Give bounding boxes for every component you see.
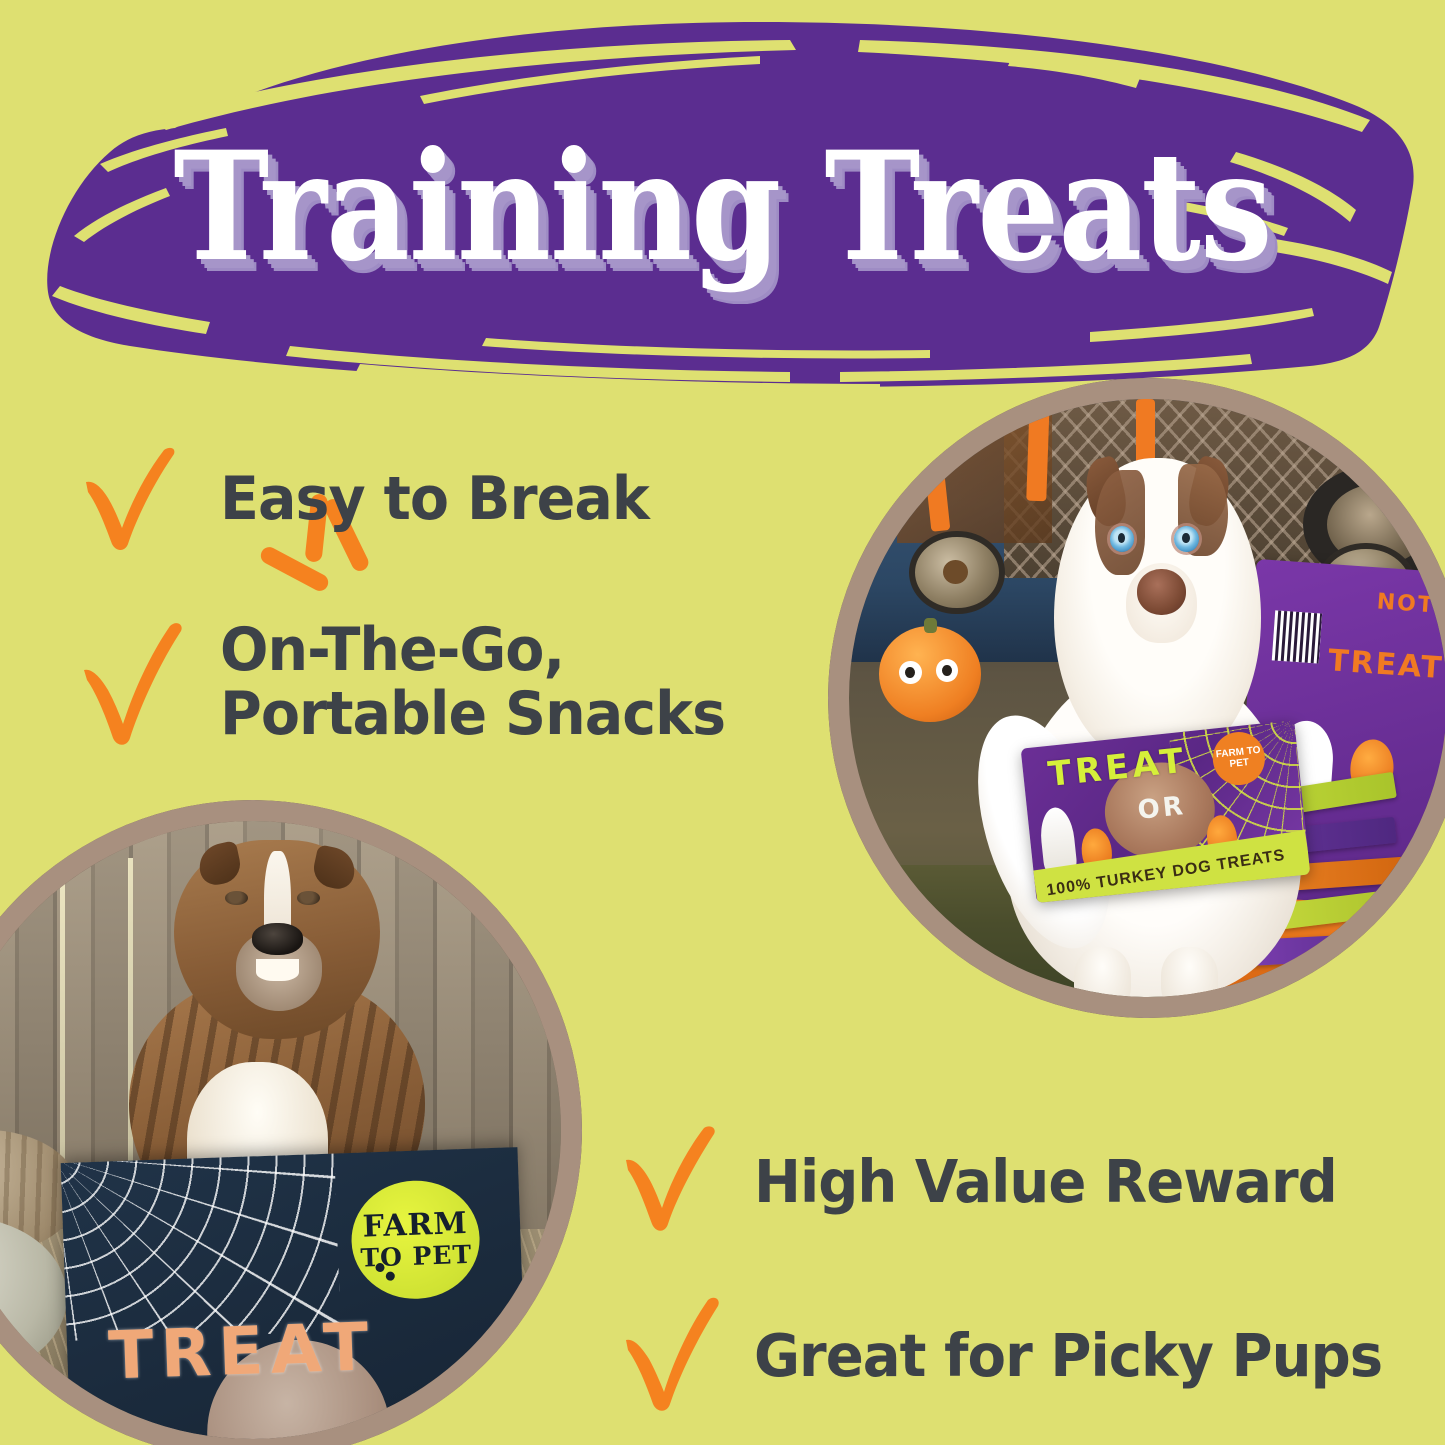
- box-word-top: NOT: [1376, 589, 1436, 618]
- orange-checkmark-icon: [620, 1296, 732, 1414]
- benefit-label: High Value Reward: [754, 1152, 1337, 1211]
- dog-paw-right: [1161, 947, 1218, 997]
- orange-checkmark-icon: [78, 444, 198, 554]
- dog-nose: [1137, 569, 1187, 615]
- dog-face-patch-left: [1095, 470, 1145, 575]
- bulldog-teeth: [256, 959, 299, 981]
- pumpkin-stem: [924, 618, 937, 633]
- dog-paw-left: [1074, 947, 1131, 997]
- photo-bulldog-image: FARM TO PET TREAT OR: [0, 821, 561, 1439]
- package-subline: OR: [1137, 791, 1188, 826]
- package-ghost-character: [97, 1419, 174, 1439]
- header-brush-banner: Training Treats: [0, 0, 1445, 400]
- held-treat-package: TREAT OR FARM TO PET 100% TURKEY DOG TRE…: [1021, 720, 1311, 903]
- page-title: Training Treats: [101, 132, 1344, 282]
- poster-canvas: Training Treats: [0, 0, 1445, 1445]
- benefit-label: Easy to Break: [220, 469, 649, 529]
- orange-checkmark-icon: [78, 618, 198, 748]
- photo-bulldog: FARM TO PET TREAT OR: [0, 800, 582, 1445]
- paw-print-icon-2: [386, 1272, 395, 1281]
- bulldog-eye-left: [225, 891, 248, 905]
- farm-to-pet-logo: FARM TO PET: [349, 1178, 481, 1301]
- benefit-item-on-the-go: On-The-Go, Portable Snacks: [78, 618, 752, 748]
- logo-line-1: FARM: [362, 1209, 468, 1243]
- bulldog-ear-left: [195, 840, 244, 888]
- benefit-item-easy-to-break: Easy to Break: [78, 444, 671, 554]
- pumpkin-eye-right: [936, 659, 958, 682]
- aussie-scene: NOT TREAT: [849, 399, 1445, 997]
- dog-eye-left: [1110, 526, 1135, 552]
- pumpkin-eye-left: [899, 661, 921, 684]
- benefit-item-picky-pups: Great for Picky Pups: [620, 1296, 1415, 1414]
- photo-aussie-shepherd-image: NOT TREAT: [849, 399, 1445, 997]
- package-headline: TREAT: [107, 1308, 376, 1394]
- bulldog-scene: FARM TO PET TREAT OR: [0, 821, 561, 1439]
- bulldog-nose: [252, 923, 303, 955]
- dog-eye-right: [1174, 526, 1199, 552]
- benefit-item-high-value-reward: High Value Reward: [620, 1126, 1368, 1236]
- bulldog-eye-right: [297, 891, 320, 905]
- box-word-main: TREAT: [1327, 644, 1445, 687]
- bulldog-ear-right: [310, 844, 359, 892]
- foreground-treat-package: FARM TO PET TREAT OR: [60, 1147, 530, 1439]
- benefit-label: Great for Picky Pups: [754, 1326, 1382, 1385]
- benefit-label: On-The-Go, Portable Snacks: [220, 619, 725, 746]
- dog-head: [1054, 458, 1262, 766]
- bulldog-head: [174, 840, 380, 1039]
- photo-aussie-shepherd: NOT TREAT: [828, 378, 1445, 1018]
- toy-pumpkin: [879, 626, 981, 722]
- orange-checkmark-icon: [620, 1126, 732, 1236]
- paw-print-icon-1: [375, 1262, 384, 1271]
